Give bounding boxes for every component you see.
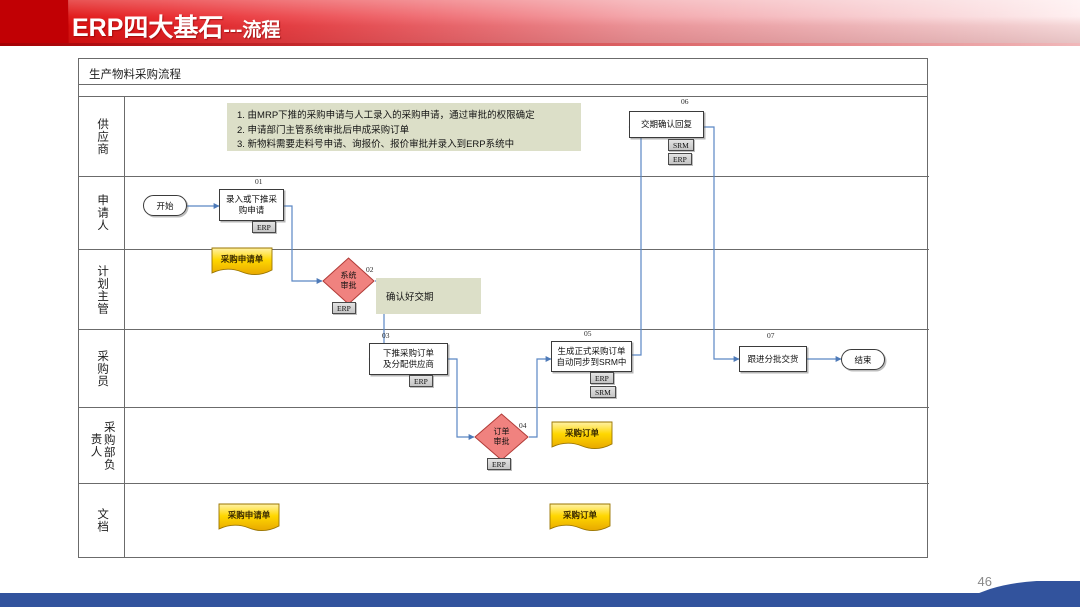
delivery-note: 确认好交期: [376, 278, 481, 314]
title-left-block: [0, 0, 68, 43]
doc-req-archive-label: 采购申请单: [218, 505, 280, 525]
lane-label-purchasing-head: 采购部负责人: [79, 408, 125, 483]
lane-label-document: 文档: [79, 484, 125, 557]
lane-label-applicant-text: 申请人: [95, 194, 108, 232]
lane-label-plan-supervisor-text: 计划主管: [95, 265, 108, 315]
node-05-badge-srm: SRM: [590, 386, 616, 398]
flowchart-title: 生产物料采购流程: [79, 59, 927, 85]
node-02-line-2: 审批: [341, 281, 357, 291]
footer-swoosh-icon: [850, 581, 1080, 607]
lane-label-supplier: 供应商: [79, 97, 125, 176]
doc-req-plan[interactable]: 采购申请单: [211, 247, 273, 277]
doc-req-archive[interactable]: 采购申请单: [218, 503, 280, 533]
slide-canvas: ERP四大基石---流程 生产物料采购流程 供应商 申请人 计划主管 采购员 采…: [0, 0, 1080, 607]
node-07-number: 07: [767, 331, 775, 340]
node-04-line-2: 审批: [494, 437, 510, 447]
node-03-process[interactable]: 下推采购订单 及分配供应商: [369, 343, 448, 375]
node-05-line-1: 生成正式采购订单: [557, 346, 625, 357]
node-02-decision[interactable]: 系统 审批: [322, 257, 375, 305]
node-05-badge-erp: ERP: [590, 372, 614, 384]
doc-order-archive-label: 采购订单: [549, 505, 611, 525]
node-01-line-1: 录入或下推采: [226, 194, 277, 205]
lane-label-document-text: 文档: [95, 508, 108, 533]
lane-label-applicant: 申请人: [79, 177, 125, 249]
rules-note-line-3: 3. 新物料需要走料号申请、询报价、报价审批并录入到ERP系统中: [237, 138, 571, 153]
doc-order-head[interactable]: 采购订单: [551, 421, 613, 451]
node-03-line-1: 下推采购订单: [383, 348, 434, 359]
node-03-line-2: 及分配供应商: [383, 359, 434, 370]
page-title-suffix: ---流程: [223, 20, 280, 41]
node-04-badge-erp: ERP: [487, 458, 511, 470]
node-02-badge-erp: ERP: [332, 302, 356, 314]
doc-order-head-label: 采购订单: [551, 423, 613, 443]
doc-order-archive[interactable]: 采购订单: [549, 503, 611, 533]
node-06-badge-srm: SRM: [668, 139, 694, 151]
lane-label-purchasing-head-text: 采购部负责人: [88, 418, 114, 474]
node-01-number: 01: [255, 177, 263, 186]
node-05-process[interactable]: 生成正式采购订单 自动同步到SRM中: [551, 341, 632, 372]
node-07-line-1: 跟进分批交货: [747, 354, 798, 365]
lane-label-supplier-text: 供应商: [95, 118, 108, 156]
node-06-number: 06: [681, 97, 689, 106]
rules-note-line-1: 1. 由MRP下推的采购申请与人工录入的采购申请，通过审批的权限确定: [237, 109, 571, 124]
doc-req-plan-label: 采购申请单: [211, 249, 273, 269]
rules-note-line-2: 2. 申请部门主管系统审批后申成采购订单: [237, 124, 571, 139]
end-terminator[interactable]: 结束: [841, 349, 885, 370]
lane-label-buyer: 采购员: [79, 330, 125, 407]
node-05-number: 05: [584, 329, 592, 338]
node-01-process[interactable]: 录入或下推采 购申请: [219, 189, 284, 221]
lane-label-buyer-text: 采购员: [95, 350, 108, 388]
node-04-label: 订单 审批: [474, 413, 529, 461]
flowchart-frame: 生产物料采购流程 供应商 申请人 计划主管 采购员 采购部负责人 文档: [78, 58, 928, 558]
lane-plan-supervisor: 计划主管: [79, 250, 929, 330]
flowchart-spacer-row: [79, 85, 927, 97]
node-01-badge-erp: ERP: [252, 221, 276, 233]
node-06-line-1: 交期确认回复: [641, 119, 692, 130]
node-06-badge-erp: ERP: [668, 153, 692, 165]
node-02-label: 系统 审批: [322, 257, 375, 305]
node-03-number: 03: [382, 331, 390, 340]
lane-label-plan-supervisor: 计划主管: [79, 250, 125, 329]
rules-note: 1. 由MRP下推的采购申请与人工录入的采购申请，通过审批的权限确定 2. 申请…: [227, 103, 581, 151]
node-07-process[interactable]: 跟进分批交货: [739, 346, 807, 372]
page-title: ERP四大基石---流程: [72, 8, 280, 44]
node-04-decision[interactable]: 订单 审批: [474, 413, 529, 461]
page-title-main: ERP四大基石: [72, 14, 223, 42]
node-03-badge-erp: ERP: [409, 375, 433, 387]
node-05-line-2: 自动同步到SRM中: [557, 357, 627, 368]
node-04-line-1: 订单: [494, 427, 510, 437]
lane-applicant: 申请人: [79, 177, 929, 250]
start-terminator[interactable]: 开始: [143, 195, 187, 216]
node-02-line-1: 系统: [341, 271, 357, 281]
node-01-line-2: 购申请: [239, 205, 265, 216]
lane-document: 文档: [79, 484, 929, 557]
node-06-process[interactable]: 交期确认回复: [629, 111, 704, 138]
